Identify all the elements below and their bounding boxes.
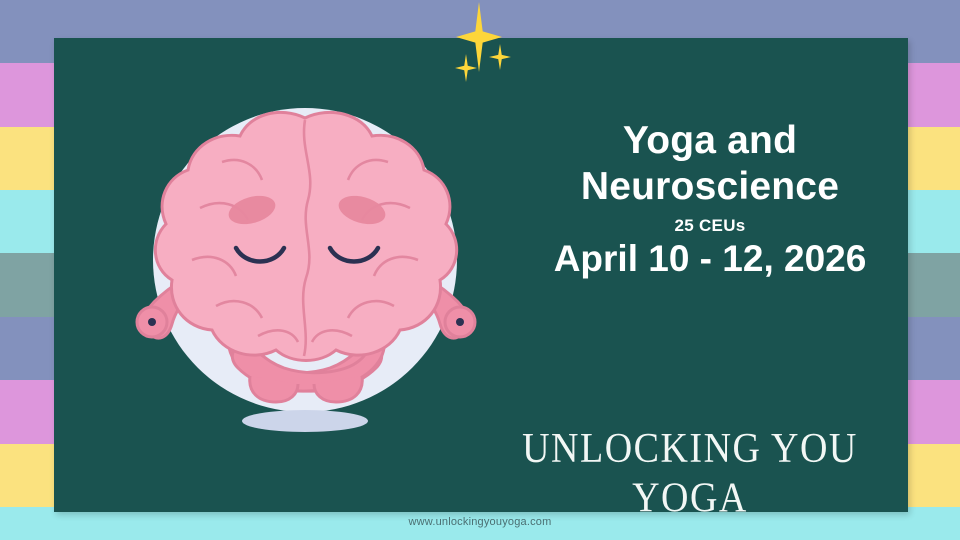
event-text-block: Yoga and Neuroscience 25 CEUs April 10 -…	[520, 118, 900, 281]
brand-wordmark: UNLOCKING YOU YOGA	[490, 424, 890, 523]
event-title: Yoga and Neuroscience	[520, 118, 900, 210]
meditating-brain-illustration	[130, 80, 490, 450]
event-dates: April 10 - 12, 2026	[520, 237, 900, 281]
floor-shadow	[242, 410, 368, 432]
poster-canvas: Yoga and Neuroscience 25 CEUs April 10 -…	[0, 0, 960, 540]
ceu-credits: 25 CEUs	[520, 216, 900, 236]
website-url: www.unlockingyouyoga.com	[0, 516, 960, 528]
